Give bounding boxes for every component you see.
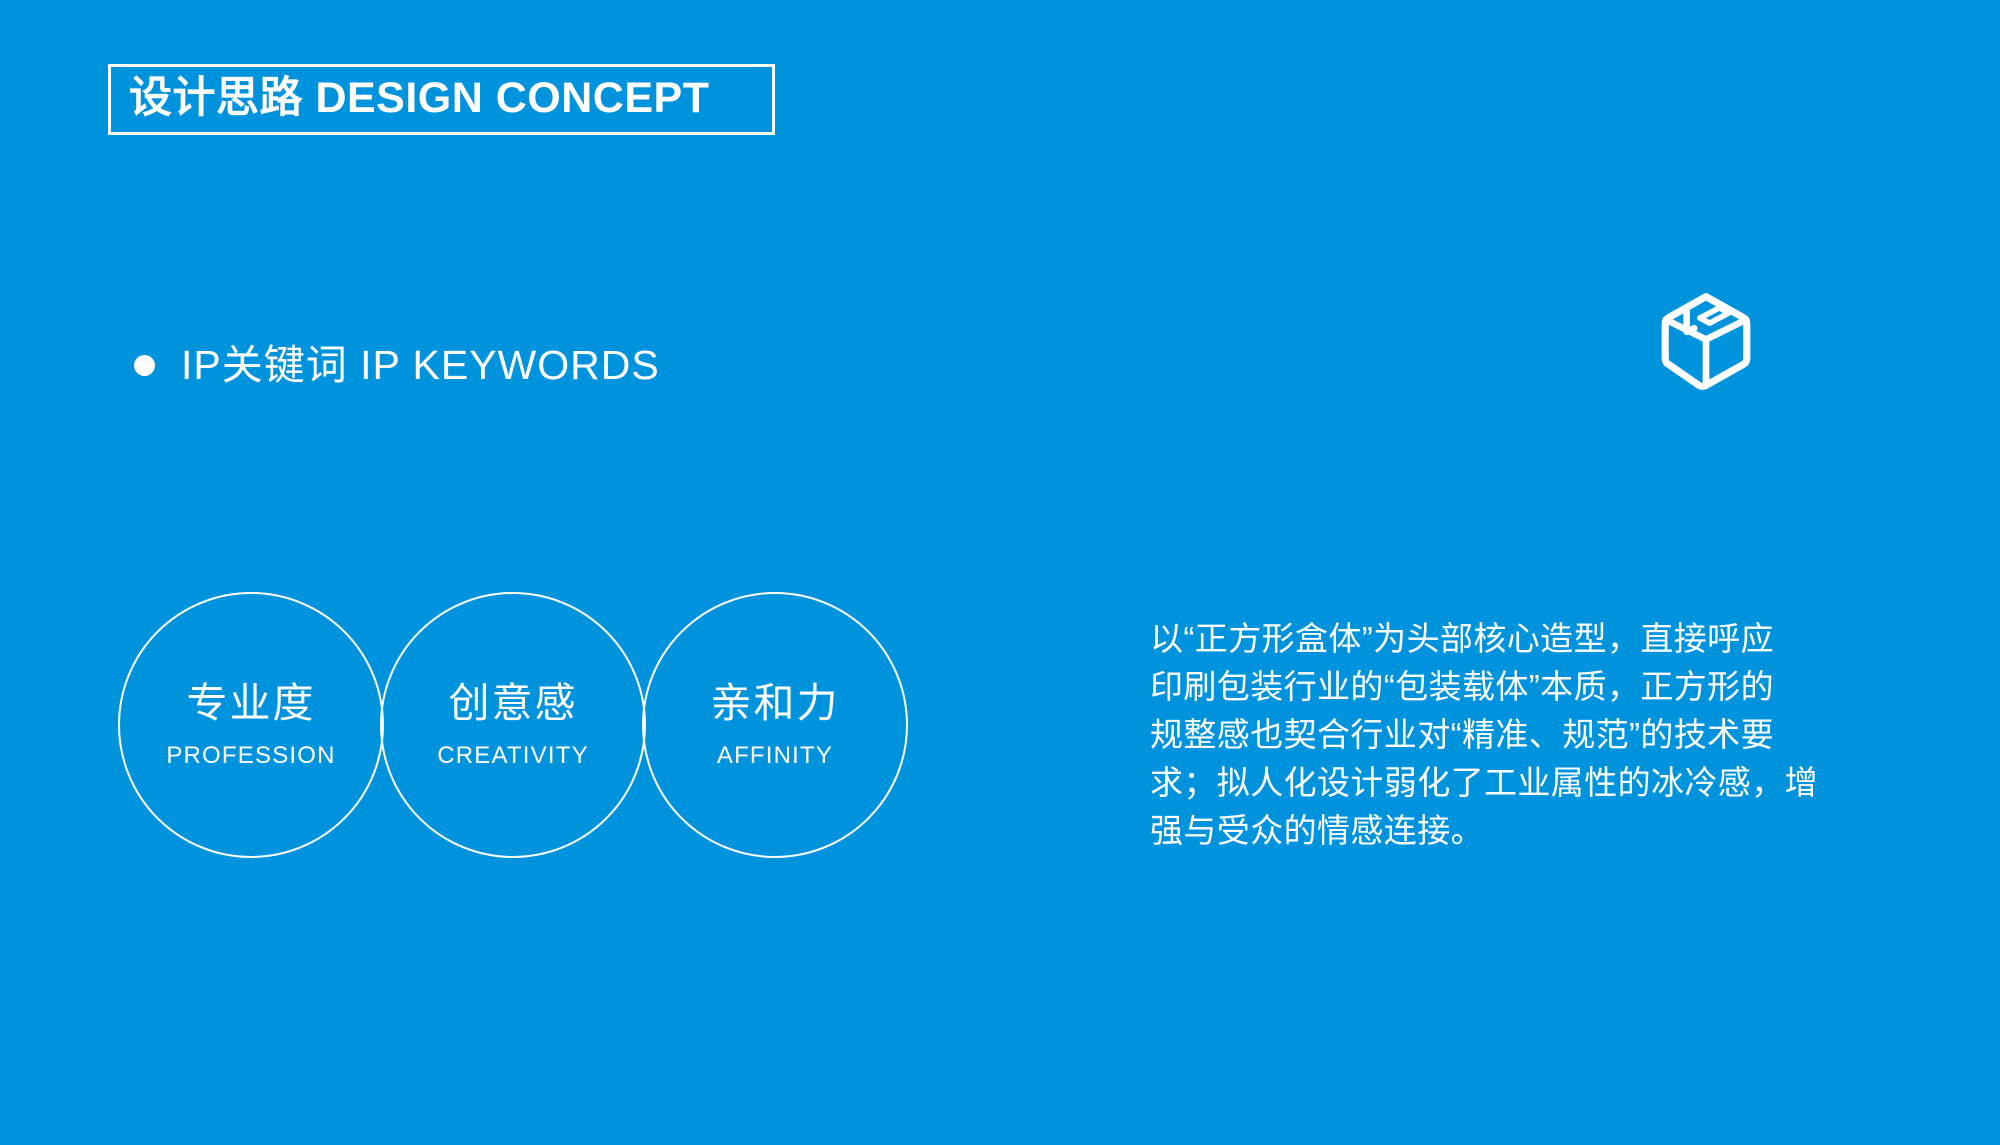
description-line: 以“正方形盒体”为头部核心造型，直接呼应	[1150, 615, 1830, 663]
keyword-circles-group: 专业度 PROFESSION 创意感 CREATIVITY 亲和力 AFFINI…	[118, 592, 908, 864]
keyword-circle-affinity: 亲和力 AFFINITY	[642, 592, 908, 858]
keyword-circle-profession: 专业度 PROFESSION	[118, 592, 384, 858]
keyword-circle-cn-label: 专业度	[187, 683, 316, 724]
keyword-circle-creativity: 创意感 CREATIVITY	[380, 592, 646, 858]
description-line: 规整感也契合行业对“精准、规范”的技术要	[1150, 711, 1830, 759]
description-line: 印刷包装行业的“包装载体”本质，正方形的	[1150, 663, 1830, 711]
keyword-circle-en-label: PROFESSION	[166, 744, 335, 768]
description-line: 求；拟人化设计弱化了工业属性的冰冷感，增	[1150, 759, 1830, 807]
description-line: 强与受众的情感连接。	[1150, 807, 1830, 855]
package-box-icon	[1655, 290, 1757, 392]
page-title: 设计思路 DESIGN CONCEPT	[111, 77, 710, 120]
keyword-circle-en-label: CREATIVITY	[437, 744, 589, 768]
description-paragraph: 以“正方形盒体”为头部核心造型，直接呼应 印刷包装行业的“包装载体”本质，正方形…	[1150, 615, 1830, 855]
design-concept-slide: 设计思路 DESIGN CONCEPT IP关键词 IP KEYWORDS 专业…	[0, 0, 2000, 1145]
ip-keywords-heading: IP关键词 IP KEYWORDS	[134, 340, 660, 390]
keyword-circle-cn-label: 亲和力	[711, 683, 840, 724]
keyword-circle-en-label: AFFINITY	[717, 744, 833, 768]
ip-keywords-label: IP关键词 IP KEYWORDS	[181, 345, 660, 386]
keyword-circle-cn-label: 创意感	[449, 683, 578, 724]
bullet-dot-icon	[134, 355, 155, 376]
section-title-box: 设计思路 DESIGN CONCEPT	[108, 64, 775, 135]
